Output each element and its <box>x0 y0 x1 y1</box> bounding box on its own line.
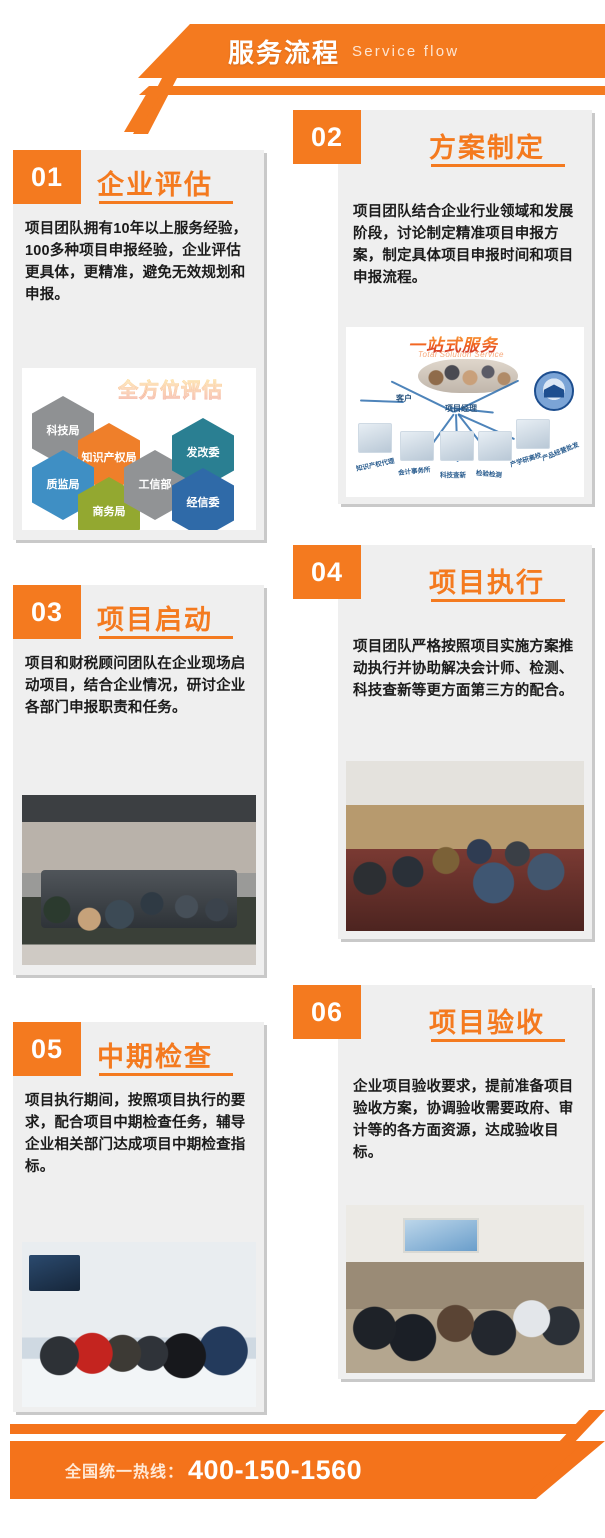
card-01-title: 企业评估 <box>97 163 213 202</box>
photo-content <box>22 795 256 965</box>
one-stop-node-4 <box>478 431 512 461</box>
photo-conference-room-kickoff <box>22 795 256 965</box>
card-04-title-rule <box>431 599 565 602</box>
hexagon-assessment-diagram: 全方位评估 科技局 知识产权局 质监局 商务局 工信部 发改委 经信委 <box>22 368 256 530</box>
card-02-description: 项目团队结合企业行业领域和发展阶段，讨论制定精准项目申报方案，制定具体项目申报时… <box>353 201 581 289</box>
hex-diagram-title: 全方位评估 <box>118 374 223 403</box>
one-stop-label-ip: 知识产权代理 <box>355 455 395 473</box>
one-stop-label-testing: 检验检测 <box>476 467 503 479</box>
photo-content <box>346 1205 584 1373</box>
card-01-title-rule <box>99 201 233 204</box>
page-subtitle: Service flow <box>352 43 459 60</box>
one-stop-service-diagram: 一站式服务 Total Solution Service 客户 项目经理 知识产… <box>346 327 584 497</box>
card-05-title: 中期检查 <box>97 1035 213 1074</box>
card-06-description: 企业项目验收要求，提前准备项目验收方案，协调验收需要政府、审计等的各方面资源，达… <box>353 1076 581 1164</box>
card-04-number-badge: 04 <box>293 545 361 599</box>
iso-seal-icon <box>534 371 574 411</box>
one-stop-subtitle: Total Solution Service <box>418 350 504 359</box>
photo-team-working-meeting <box>346 761 584 931</box>
card-05-description: 项目执行期间，按照项目执行的要求，配合项目中期检查任务，辅导企业相关部门达成项目… <box>25 1090 253 1178</box>
card-05-number-badge: 05 <box>13 1022 81 1076</box>
photo-acceptance-boardroom <box>346 1205 584 1373</box>
one-stop-label-accounting: 会计事务所 <box>397 464 430 477</box>
card-04-description: 项目团队严格按照项目实施方案推动执行并协助解决会计师、检测、科技查新等更方面第三… <box>353 636 581 702</box>
card-01-number-badge: 01 <box>13 150 81 204</box>
one-stop-label-manager: 项目经理 <box>445 403 477 414</box>
card-06-title: 项目验收 <box>429 1001 545 1040</box>
one-stop-node-3 <box>440 431 474 461</box>
card-02-title-rule <box>431 164 565 167</box>
card-03-title: 项目启动 <box>97 598 213 637</box>
card-01-description: 项目团队拥有10年以上服务经验，100多种项目申报经验，企业评估更具体，更精准，… <box>25 218 253 306</box>
footer-hotline-bar: 全国统一热线： 400-150-1560 <box>10 1441 585 1499</box>
card-02-title: 方案制定 <box>429 126 545 165</box>
card-06-number-badge: 06 <box>293 985 361 1039</box>
card-03-title-rule <box>99 636 233 639</box>
header-banner: 服务流程 Service flow <box>138 24 605 78</box>
one-stop-label-university: 产学研高校 <box>508 449 542 469</box>
hotline-number[interactable]: 400-150-1560 <box>188 1455 362 1486</box>
one-stop-node-2 <box>400 431 434 461</box>
card-02-number-badge: 02 <box>293 110 361 164</box>
one-stop-node-5 <box>516 419 550 449</box>
card-05-title-rule <box>99 1073 233 1076</box>
one-stop-node-1 <box>358 423 392 453</box>
card-03-number-badge: 03 <box>13 585 81 639</box>
service-flow-poster: 服务流程 Service flow 01 企业评估 项目团队拥有10年以上服务经… <box>0 0 605 1538</box>
page-title: 服务流程 <box>228 33 340 70</box>
footer-accent-rule <box>10 1424 585 1434</box>
photo-site-inspection-lobby <box>22 1242 256 1407</box>
header-accent-rule <box>139 86 605 95</box>
card-04-title: 项目执行 <box>429 561 545 600</box>
photo-content <box>346 761 584 931</box>
one-stop-label-search: 科技查新 <box>440 469 466 479</box>
photo-content <box>22 1242 256 1407</box>
one-stop-label-client: 客户 <box>396 393 412 404</box>
card-06-title-rule <box>431 1039 565 1042</box>
card-03-description: 项目和财税顾问团队在企业现场启动项目，结合企业情况，研讨企业各部门申报职责和任务… <box>25 653 253 719</box>
hotline-label: 全国统一热线： <box>65 1458 184 1482</box>
